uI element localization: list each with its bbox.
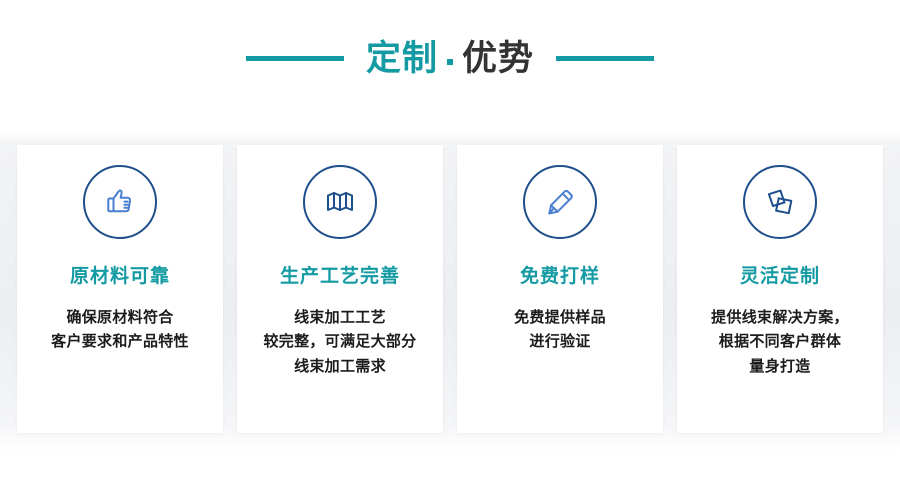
advantage-card-line: 根据不同客户群体 bbox=[711, 330, 849, 354]
advantage-card[interactable]: 生产工艺完善 线束加工工艺 较完整，可满足大部分 线束加工需求 bbox=[237, 145, 443, 433]
pencil-icon bbox=[523, 165, 597, 239]
advantage-card-line: 客户要求和产品特性 bbox=[51, 330, 189, 354]
advantage-card-line: 线束加工工艺 bbox=[263, 306, 416, 330]
advantage-card-description: 确保原材料符合 客户要求和产品特性 bbox=[43, 306, 197, 355]
advantages-band: 原材料可靠 确保原材料符合 客户要求和产品特性 生产工艺完善 线束加工工艺 较完… bbox=[0, 132, 900, 452]
thumbs-up-icon bbox=[83, 165, 157, 239]
advantage-card-title: 原材料可靠 bbox=[70, 267, 170, 286]
stacked-cards-icon bbox=[743, 165, 817, 239]
advantage-card-line: 免费提供样品 bbox=[514, 306, 606, 330]
advantage-card-line: 量身打造 bbox=[711, 355, 849, 379]
header-rule-left bbox=[246, 56, 344, 61]
header-rule-right bbox=[556, 56, 654, 61]
advantage-card-description: 免费提供样品 进行验证 bbox=[506, 306, 614, 355]
advantage-card-line: 确保原材料符合 bbox=[51, 306, 189, 330]
advantage-card-title: 免费打样 bbox=[520, 267, 600, 286]
advantage-card-line: 进行验证 bbox=[514, 330, 606, 354]
advantages-card-row: 原材料可靠 确保原材料符合 客户要求和产品特性 生产工艺完善 线束加工工艺 较完… bbox=[17, 145, 883, 433]
advantage-card[interactable]: 原材料可靠 确保原材料符合 客户要求和产品特性 bbox=[17, 145, 223, 433]
advantage-card-title: 灵活定制 bbox=[740, 267, 820, 286]
advantage-card-title: 生产工艺完善 bbox=[280, 267, 400, 286]
page-title-primary: 定制 bbox=[366, 41, 438, 76]
advantage-card-line: 提供线束解决方案， bbox=[711, 306, 849, 330]
title-separator-dot bbox=[447, 59, 453, 65]
advantage-card[interactable]: 免费打样 免费提供样品 进行验证 bbox=[457, 145, 663, 433]
advantage-card-description: 线束加工工艺 较完整，可满足大部分 线束加工需求 bbox=[255, 306, 424, 379]
page-title: 定制 优势 bbox=[366, 41, 534, 76]
folded-map-icon bbox=[303, 165, 377, 239]
page-title-secondary: 优势 bbox=[462, 41, 534, 76]
section-header: 定制 优势 bbox=[0, 28, 900, 88]
advantage-card-line: 较完整，可满足大部分 bbox=[263, 330, 416, 354]
advantage-card-line: 线束加工需求 bbox=[263, 355, 416, 379]
advantage-card[interactable]: 灵活定制 提供线束解决方案， 根据不同客户群体 量身打造 bbox=[677, 145, 883, 433]
advantage-card-description: 提供线束解决方案， 根据不同客户群体 量身打造 bbox=[703, 306, 857, 379]
